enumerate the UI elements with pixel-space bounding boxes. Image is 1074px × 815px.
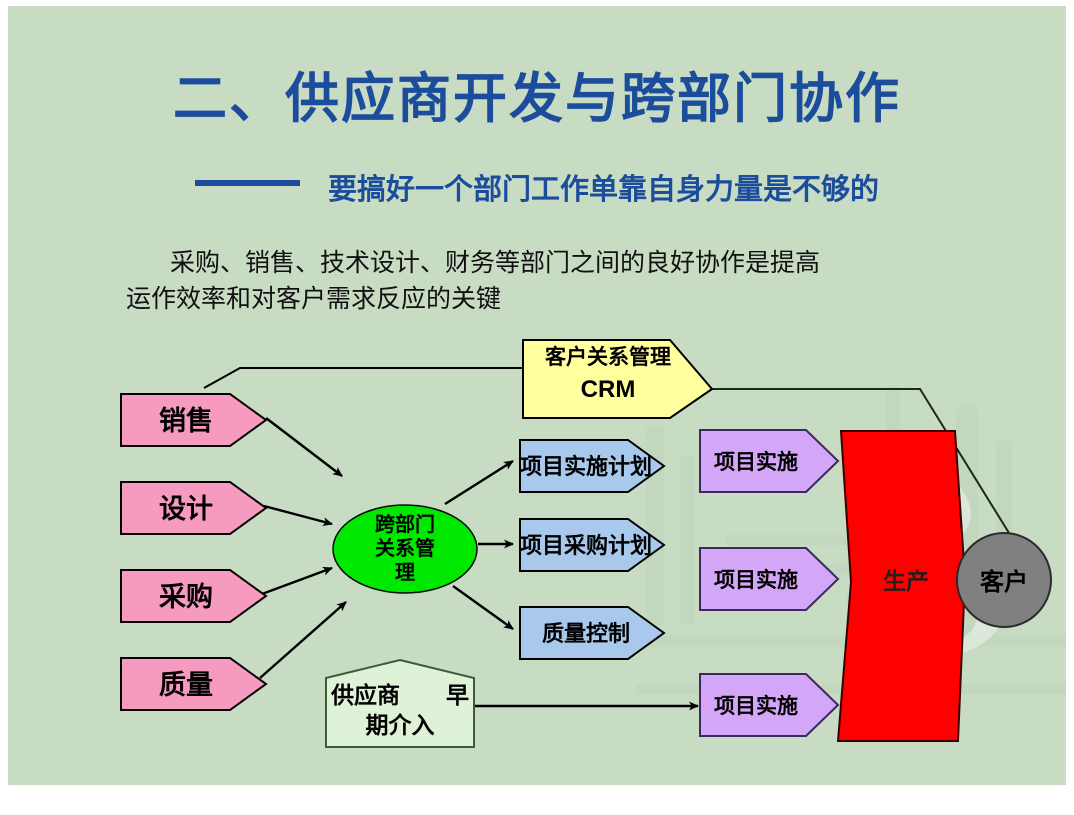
arrow-purchasing-to-hub <box>262 568 332 594</box>
production-label: 生产 <box>883 568 929 594</box>
input-arrow-design[interactable]: 设计 <box>121 482 266 534</box>
hub-ellipse[interactable]: 跨部门 关系管 理 <box>333 505 477 593</box>
plan-arrow-implementation-label: 项目实施计划 <box>520 454 652 479</box>
input-arrow-purchasing-label: 采购 <box>159 582 213 612</box>
arrow-hub-to-plan-implementation <box>445 461 513 504</box>
input-arrow-design-label: 设计 <box>159 494 213 524</box>
crm-label-line1: 客户关系管理 <box>545 345 671 369</box>
arrow-hub-to-quality-control <box>453 586 513 629</box>
execution-arrow-3[interactable]: 项目实施 <box>700 674 838 736</box>
arrow-sales-to-hub <box>266 418 342 476</box>
hub-label-line3: 理 <box>395 562 415 584</box>
supplier-label-line1: 供应商 早 <box>330 682 469 708</box>
execution-arrow-1-label: 项目实施 <box>714 450 798 474</box>
crm-label-line2: CRM <box>581 376 636 403</box>
supplier-label-line2: 期介入 <box>366 713 435 738</box>
execution-arrow-3-label: 项目实施 <box>714 694 798 718</box>
hub-label-line1: 跨部门 <box>375 512 435 536</box>
arrow-quality-to-hub <box>260 602 346 678</box>
input-arrow-sales-label: 销售 <box>159 405 213 436</box>
crm-shape[interactable]: 客户关系管理 CRM <box>523 340 712 418</box>
process-diagram: 销售 设计 采购 质量 客户关系管理 CRM 跨部门 关系管 理 <box>8 6 1066 785</box>
plan-arrow-procurement-label: 项目采购计划 <box>520 533 652 558</box>
execution-arrow-2-label: 项目实施 <box>714 568 798 592</box>
input-arrow-sales[interactable]: 销售 <box>121 394 266 446</box>
line-sales-to-crm <box>204 368 523 388</box>
input-arrow-quality-label: 质量 <box>159 670 213 700</box>
customer-label: 客户 <box>980 568 1028 596</box>
plan-arrow-quality-control-label: 质量控制 <box>542 621 630 646</box>
supplier-shape[interactable]: 供应商 早 期介入 <box>326 660 474 747</box>
customer-circle[interactable]: 客户 <box>957 533 1051 627</box>
plan-arrow-procurement[interactable]: 项目采购计划 <box>520 519 664 571</box>
hub-label-line2: 关系管 <box>375 536 435 560</box>
execution-arrow-2[interactable]: 项目实施 <box>700 548 838 610</box>
input-arrow-quality[interactable]: 质量 <box>121 658 266 710</box>
execution-arrow-1[interactable]: 项目实施 <box>700 430 838 492</box>
plan-arrow-quality-control[interactable]: 质量控制 <box>520 607 664 659</box>
arrow-design-to-hub <box>264 506 332 524</box>
plan-arrow-implementation[interactable]: 项目实施计划 <box>520 440 664 492</box>
production-shape[interactable]: 生产 <box>838 431 965 741</box>
input-arrow-purchasing[interactable]: 采购 <box>121 570 266 622</box>
slide-canvas: 二、供应商开发与跨部门协作 要搞好一个部门工作单靠自身力量是不够的 采购、销售、… <box>8 6 1066 785</box>
